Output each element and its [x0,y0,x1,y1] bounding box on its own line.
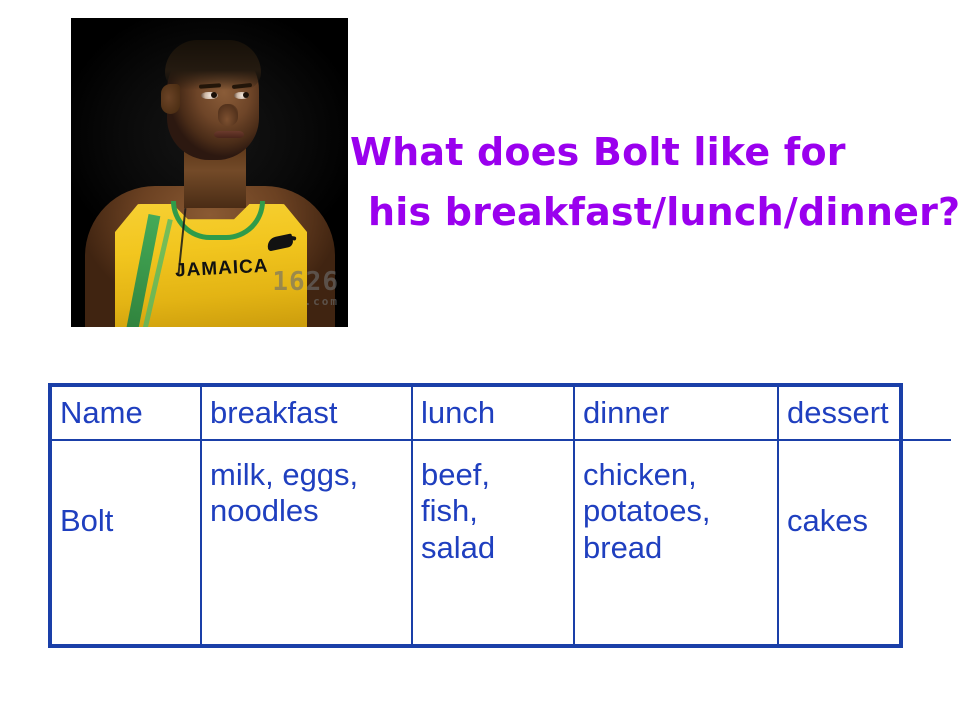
photo-pupil-right [243,92,249,98]
cell-breakfast-line-1: milk, eggs, [210,457,411,493]
meals-table-element: Name breakfast lunch dinner dessert Bolt… [52,387,951,644]
header-breakfast: breakfast [201,387,412,440]
slide-title-line-1: What does Bolt like for [350,133,846,171]
header-dinner: dinner [574,387,778,440]
photo-mouth [214,131,244,138]
cell-dinner: chicken, potatoes, bread [574,440,778,644]
header-dessert: dessert [778,387,951,440]
cell-dessert-text: cakes [787,443,951,539]
photo-pupil-left [211,92,217,98]
watermark-suffix: .com [272,296,339,307]
meals-table: Name breakfast lunch dinner dessert Bolt… [48,383,903,648]
cell-dinner-lines: chicken, potatoes, bread [583,443,777,566]
photo-ear [161,84,180,114]
bolt-photo: JAMAICA 1626 .com [71,18,348,327]
cell-lunch: beef, fish, salad [412,440,574,644]
cell-lunch-line-2: fish, [421,493,573,529]
table-row: Bolt milk, eggs, noodles beef, fish, sal… [52,440,951,644]
cell-dinner-line-3: bread [583,530,777,566]
slide-title-line-2: his breakfast/lunch/dinner? [368,193,960,231]
header-name: Name [52,387,201,440]
photo-illustration: JAMAICA 1626 .com [71,18,348,327]
watermark-text: 1626 [272,267,339,297]
cell-lunch-lines: beef, fish, salad [421,443,573,566]
photo-nose [218,104,238,126]
cell-dessert: cakes [778,440,951,644]
cell-lunch-line-1: beef, [421,457,573,493]
cell-breakfast-line-2: noodles [210,493,411,529]
cell-breakfast: milk, eggs, noodles [201,440,412,644]
cell-lunch-line-3: salad [421,530,573,566]
header-lunch: lunch [412,387,574,440]
cell-breakfast-lines: milk, eggs, noodles [210,443,411,530]
cell-dinner-line-1: chicken, [583,457,777,493]
cell-name-text: Bolt [60,443,200,539]
cell-name: Bolt [52,440,201,644]
photo-watermark: 1626 .com [272,269,339,307]
table-header-row: Name breakfast lunch dinner dessert [52,387,951,440]
cell-dinner-line-2: potatoes, [583,493,777,529]
